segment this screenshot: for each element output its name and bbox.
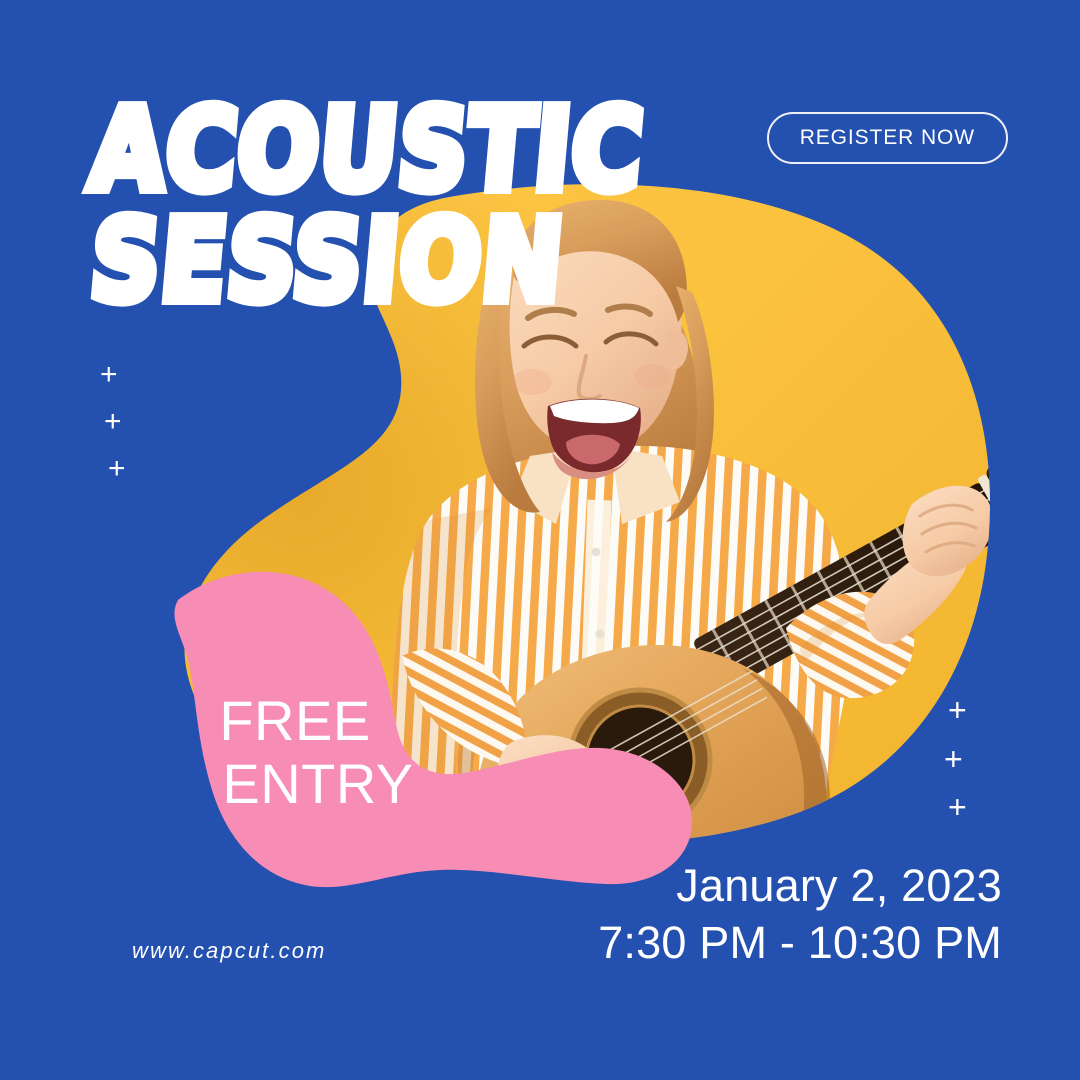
- plus-icon-left-2: +: [104, 407, 122, 437]
- event-time: 7:30 PM - 10:30 PM: [598, 914, 1002, 972]
- register-now-button[interactable]: REGISTER NOW: [767, 112, 1008, 164]
- free-entry-badge: FREE ENTRY: [150, 690, 440, 815]
- headline-line-2: SESSION: [86, 207, 647, 317]
- plus-icon-left-1: +: [100, 360, 118, 390]
- poster-canvas: ACOUSTIC SESSION REGISTER NOW FREE ENTRY…: [0, 0, 1080, 1080]
- plus-icon-right-1: +: [948, 694, 967, 726]
- website-url[interactable]: www.capcut.com: [132, 938, 326, 964]
- free-entry-line-2: ENTRY: [196, 753, 440, 816]
- headline-line-1: ACOUSTIC: [86, 96, 647, 206]
- plus-icon-left-3: +: [108, 454, 126, 484]
- event-datetime: January 2, 2023 7:30 PM - 10:30 PM: [598, 857, 1002, 972]
- free-entry-line-1: FREE: [150, 690, 440, 753]
- poster-headline: ACOUSTIC SESSION: [96, 96, 626, 297]
- plus-icon-right-3: +: [948, 791, 967, 823]
- event-date: January 2, 2023: [598, 857, 1002, 915]
- plus-icon-right-2: +: [944, 743, 963, 775]
